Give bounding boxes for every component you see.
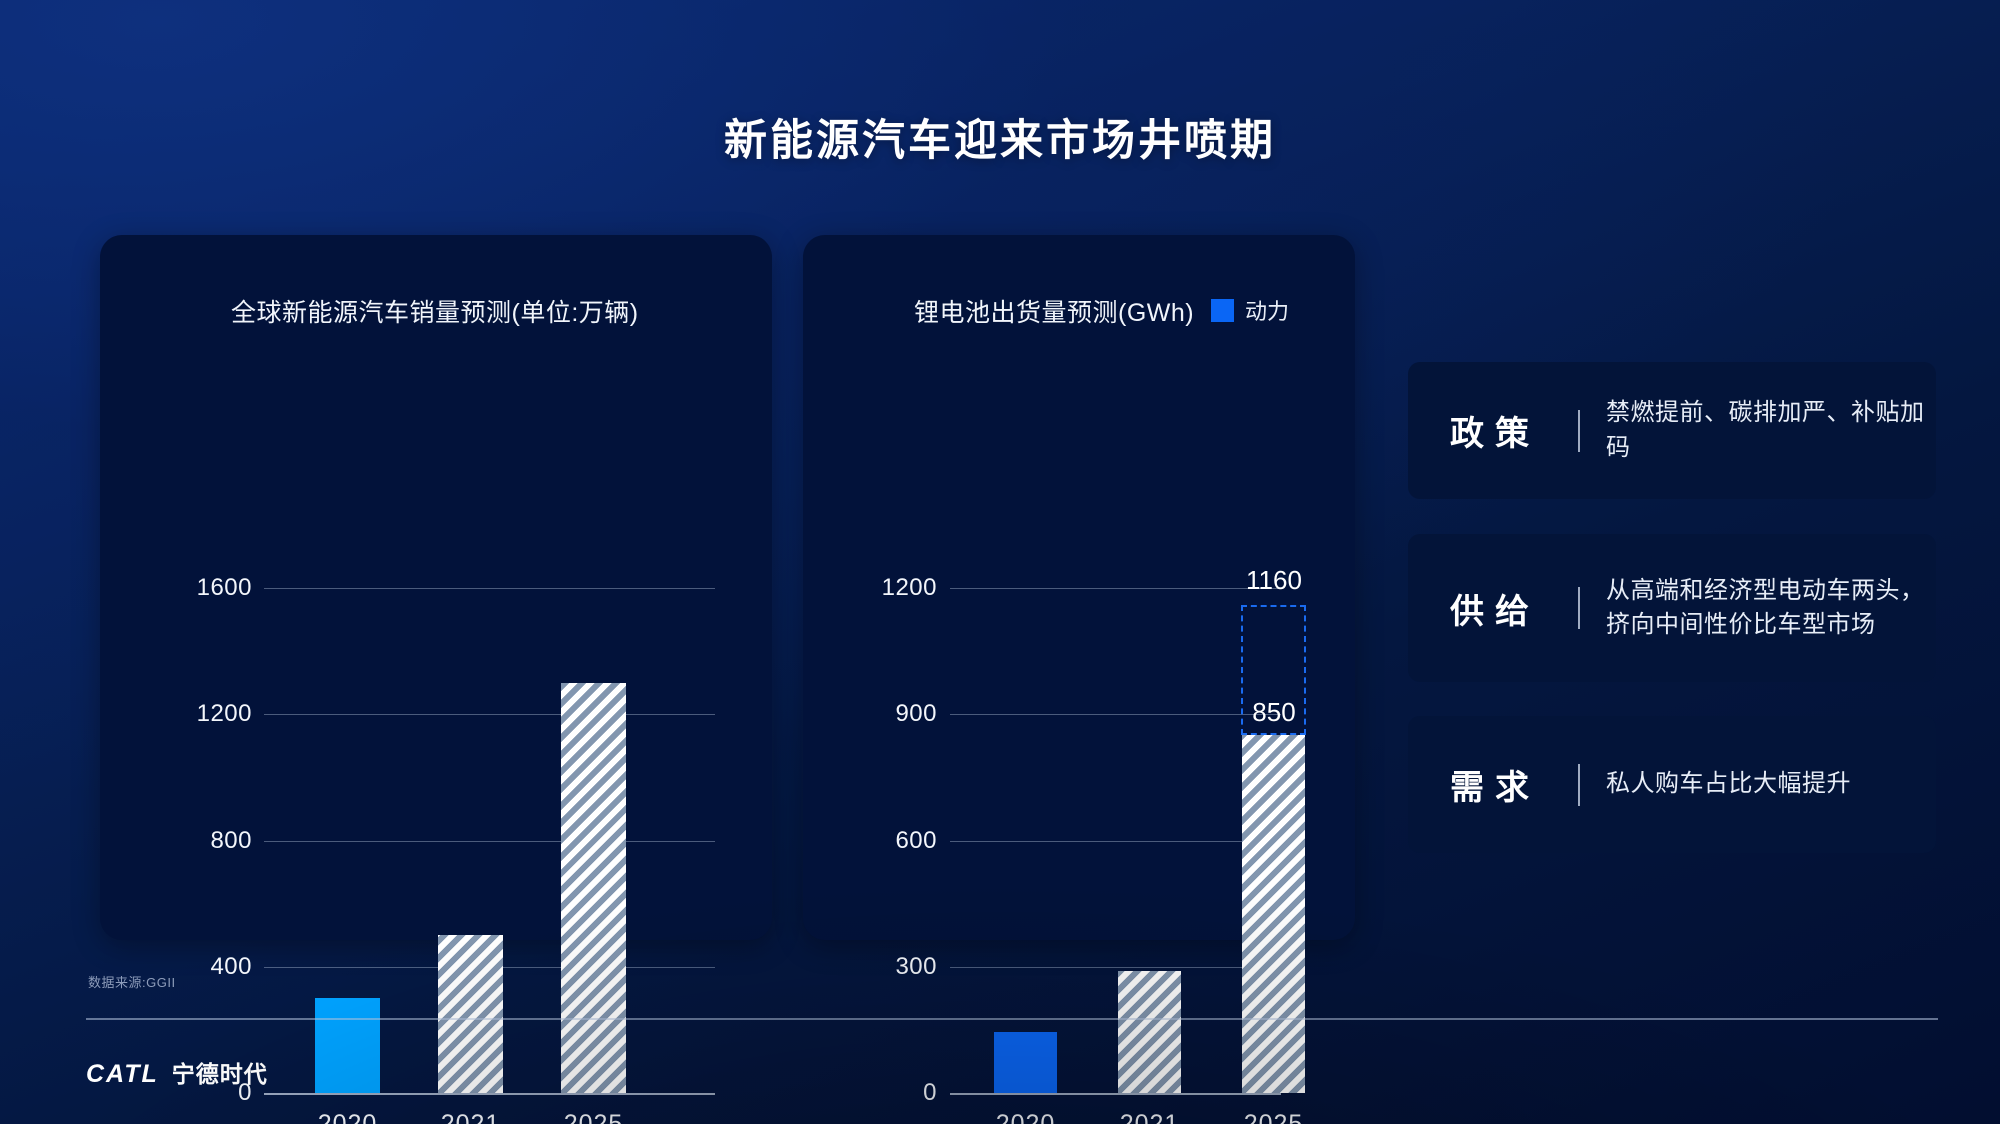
chart2-plot-area: 1200 900 600 300 0 1160 850 2020 2021 20… (803, 235, 1355, 940)
brand-logo: CATL 宁德时代 (86, 1055, 268, 1089)
slide-canvas: 新能源汽车迎来市场井喷期 全球新能源汽车销量预测(单位:万辆) 1600 120… (0, 0, 2000, 1124)
chart1-ytick-800: 800 (110, 827, 252, 855)
info-panel-policy: 政策 禁燃提前、碳排加严、补贴加码 (1408, 362, 1936, 499)
footer-divider (86, 1018, 1938, 1020)
chart2-ytick-0: 0 (803, 1079, 937, 1107)
brand-chinese-name: 宁德时代 (172, 1055, 268, 1089)
brand-latin-name: CATL (86, 1060, 159, 1089)
chart-card-battery-shipments: 锂电池出货量预测(GWh) 动力 1200 900 600 300 0 (803, 235, 1355, 940)
info-panel-supply-divider (1578, 587, 1580, 629)
info-panel-policy-divider (1578, 410, 1580, 452)
chart1-ytick-1200: 1200 (110, 700, 252, 728)
info-panel-supply: 供给 从高端和经济型电动车两头，挤向中间性价比车型市场 (1408, 534, 1936, 682)
chart-card-ev-sales: 全球新能源汽车销量预测(单位:万辆) 1600 1200 800 400 0 2… (100, 235, 772, 940)
chart2-ytick-900: 900 (803, 700, 937, 728)
chart2-bar-2025[interactable] (1242, 735, 1305, 1093)
chart1-plot-area: 1600 1200 800 400 0 2020 2021 2025 (100, 235, 772, 940)
info-panel-supply-key: 供给 (1450, 584, 1578, 633)
chart2-bar-2020[interactable] (994, 1032, 1057, 1093)
chart2-bar-2021[interactable] (1118, 971, 1181, 1093)
info-panel-demand: 需求 私人购车占比大幅提升 (1408, 716, 1936, 853)
page-title: 新能源汽车迎来市场井喷期 (0, 106, 2000, 168)
chart1-axis-x (264, 1093, 715, 1095)
info-panel-demand-key: 需求 (1450, 760, 1578, 809)
chart2-xtick-2025: 2025 (1223, 1110, 1324, 1124)
chart2-xtick-2021: 2021 (1099, 1110, 1200, 1124)
chart1-bar-2020[interactable] (315, 998, 380, 1093)
source-note: 数据来源:GGII (88, 972, 176, 991)
info-panel-policy-key: 政策 (1450, 406, 1578, 455)
chart1-gridline-800 (264, 841, 715, 842)
chart2-ytick-300: 300 (803, 953, 937, 981)
chart1-bar-2021[interactable] (438, 935, 503, 1093)
chart1-ytick-1600: 1600 (110, 574, 252, 602)
chart1-xtick-2021: 2021 (420, 1110, 521, 1124)
chart2-ytick-1200: 1200 (803, 574, 937, 602)
chart1-gridline-1200 (264, 714, 715, 715)
chart2-gridline-600 (950, 841, 1281, 842)
chart2-ytick-600: 600 (803, 827, 937, 855)
info-panel-supply-text: 从高端和经济型电动车两头，挤向中间性价比车型市场 (1606, 574, 1936, 642)
chart1-xtick-2025: 2025 (543, 1110, 644, 1124)
chart2-axis-x (950, 1093, 1281, 1095)
chart2-gridline-300 (950, 967, 1281, 968)
info-panel-policy-text: 禁燃提前、碳排加严、补贴加码 (1606, 396, 1936, 464)
chart2-value-label-850: 850 (1195, 697, 1353, 728)
chart1-gridline-1600 (264, 588, 715, 589)
chart1-bar-2025[interactable] (561, 683, 626, 1093)
info-panel-demand-text: 私人购车占比大幅提升 (1606, 767, 1851, 801)
chart1-xtick-2020: 2020 (297, 1110, 398, 1124)
info-panel-demand-divider (1578, 764, 1580, 806)
chart2-value-label-1160: 1160 (1195, 565, 1353, 596)
chart2-xtick-2020: 2020 (975, 1110, 1076, 1124)
